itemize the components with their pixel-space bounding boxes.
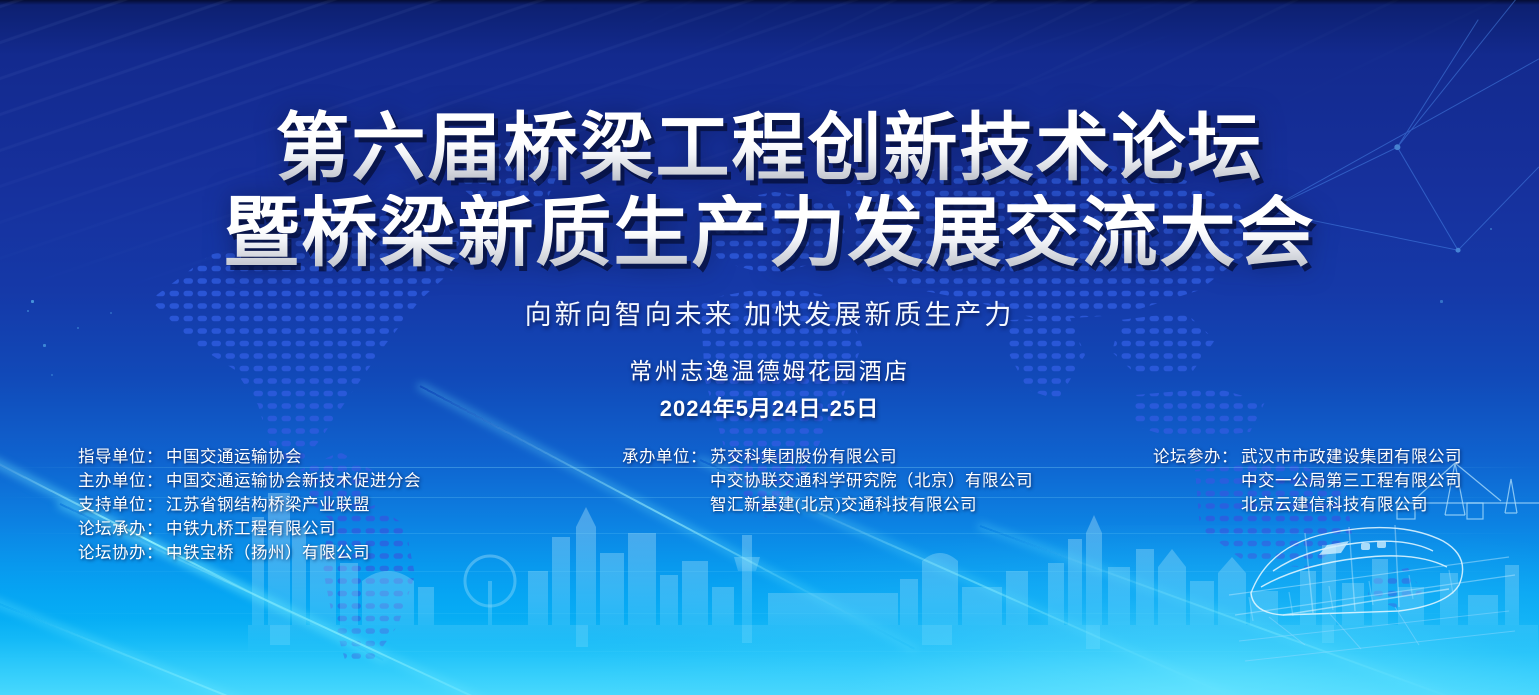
sponsor-row: 支持单位：江苏省钢结构桥梁产业联盟	[78, 493, 421, 517]
sponsor-column-left: 指导单位：中国交通运输协会 主办单位：中国交通运输协会新技术促进分会 支持单位：…	[78, 445, 421, 565]
sponsor-value: 中国交通运输协会	[166, 445, 302, 469]
sponsor-value: 智汇新基建(北京)交通科技有限公司	[710, 493, 977, 517]
sponsor-label: 指导单位：	[78, 445, 166, 469]
title-line-2: 暨桥梁新质生产力发展交流大会	[0, 194, 1539, 274]
title-line-1: 第六届桥梁工程创新技术论坛	[0, 108, 1539, 188]
sponsor-value: 武汉市市政建设集团有限公司	[1241, 445, 1462, 469]
sponsor-row: 指导单位：中国交通运输协会	[78, 445, 421, 469]
sponsor-value: 江苏省钢结构桥梁产业联盟	[166, 493, 370, 517]
slogan: 向新向智向未来 加快发展新质生产力	[0, 293, 1539, 332]
banner-content: 第六届桥梁工程创新技术论坛 暨桥梁新质生产力发展交流大会 向新向智向未来 加快发…	[0, 0, 1539, 695]
sponsor-column-middle: 承办单位：苏交科集团股份有限公司 承办单位：中交协联交通科学研究院（北京）有限公…	[622, 445, 1033, 517]
sponsor-label: 承办单位：	[622, 445, 710, 469]
sponsor-row: 论坛承办：中铁九桥工程有限公司	[78, 517, 421, 541]
sponsor-row: 主办单位：中国交通运输协会新技术促进分会	[78, 469, 421, 493]
sponsor-columns: 指导单位：中国交通运输协会 主办单位：中国交通运输协会新技术促进分会 支持单位：…	[0, 445, 1539, 575]
sponsor-value: 中国交通运输协会新技术促进分会	[166, 469, 421, 493]
sponsor-label: 论坛承办：	[78, 517, 166, 541]
sponsor-row: 论坛参办：北京云建信科技有限公司	[1153, 493, 1462, 517]
sponsor-label: 论坛参办：	[1153, 445, 1241, 469]
sponsor-row: 承办单位：智汇新基建(北京)交通科技有限公司	[622, 493, 1033, 517]
sponsor-label: 支持单位：	[78, 493, 166, 517]
sponsor-row: 论坛参办：中交一公局第三工程有限公司	[1153, 469, 1462, 493]
title-block: 第六届桥梁工程创新技术论坛 暨桥梁新质生产力发展交流大会	[0, 108, 1539, 274]
conference-banner: 第六届桥梁工程创新技术论坛 暨桥梁新质生产力发展交流大会 向新向智向未来 加快发…	[0, 0, 1539, 695]
sponsor-row: 论坛协办：中铁宝桥（扬州）有限公司	[78, 541, 421, 565]
venue-block: 常州志逸温德姆花园酒店 2024年5月24日-25日	[0, 352, 1539, 423]
sponsor-value: 中交协联交通科学研究院（北京）有限公司	[710, 469, 1033, 493]
sponsor-value: 中铁九桥工程有限公司	[166, 517, 336, 541]
sponsor-value: 中交一公局第三工程有限公司	[1241, 469, 1462, 493]
venue-date: 2024年5月24日-25日	[0, 391, 1539, 423]
sponsor-label: 主办单位：	[78, 469, 166, 493]
sponsor-label: 论坛协办：	[78, 541, 166, 565]
sponsor-row: 论坛参办：武汉市市政建设集团有限公司	[1153, 445, 1462, 469]
venue-place: 常州志逸温德姆花园酒店	[0, 352, 1539, 386]
sponsor-column-right: 论坛参办：武汉市市政建设集团有限公司 论坛参办：中交一公局第三工程有限公司 论坛…	[1153, 445, 1462, 517]
sponsor-row: 承办单位：中交协联交通科学研究院（北京）有限公司	[622, 469, 1033, 493]
sponsor-row: 承办单位：苏交科集团股份有限公司	[622, 445, 1033, 469]
sponsor-value: 北京云建信科技有限公司	[1241, 493, 1428, 517]
sponsor-value: 中铁宝桥（扬州）有限公司	[166, 541, 370, 565]
sponsor-value: 苏交科集团股份有限公司	[710, 445, 897, 469]
